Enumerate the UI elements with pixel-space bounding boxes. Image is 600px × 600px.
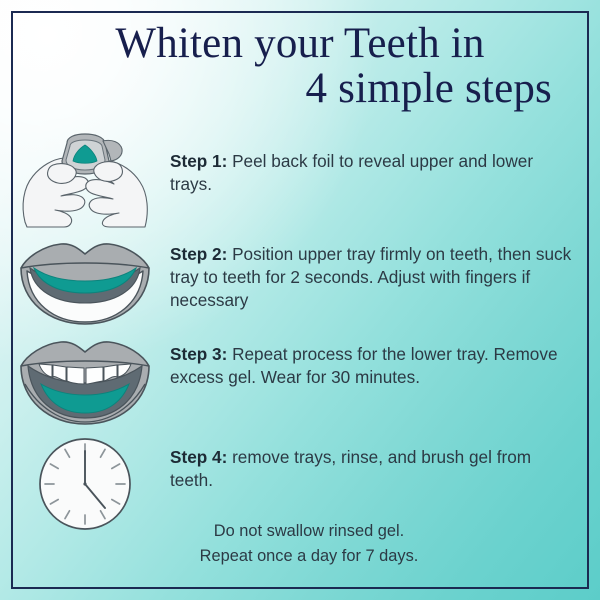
list-item: Step 2: Position upper tray firmly on te… bbox=[0, 229, 600, 332]
step-label-2: Step 2: bbox=[170, 244, 227, 264]
step-text-4: Step 4: remove trays, rinse, and brush g… bbox=[170, 432, 600, 492]
step-illustration-3 bbox=[0, 332, 170, 432]
open-mouth-upper-tray-icon bbox=[17, 235, 153, 327]
step-label-4: Step 4: bbox=[170, 447, 227, 467]
step-body-3: Repeat process for the lower tray. Remov… bbox=[170, 344, 558, 387]
steps-list: Step 1: Peel back foil to reveal upper a… bbox=[0, 131, 600, 535]
step-text-1: Step 1: Peel back foil to reveal upper a… bbox=[170, 131, 600, 196]
hands-peeling-foil-packet-icon bbox=[17, 132, 153, 228]
footer-line-2: Repeat once a day for 7 days. bbox=[18, 544, 600, 569]
clock-icon bbox=[37, 436, 133, 532]
title-line-2: 4 simple steps bbox=[30, 67, 570, 112]
step-label-3: Step 3: bbox=[170, 344, 227, 364]
step-text-2: Step 2: Position upper tray firmly on te… bbox=[170, 229, 600, 312]
step-text-3: Step 3: Repeat process for the lower tra… bbox=[170, 332, 600, 389]
step-label-1: Step 1: bbox=[170, 151, 227, 171]
page-title: Whiten your Teeth in 4 simple steps bbox=[30, 22, 570, 111]
step-illustration-2 bbox=[0, 229, 170, 332]
step-body-2: Position upper tray firmly on teeth, the… bbox=[170, 244, 571, 310]
list-item: Step 3: Repeat process for the lower tra… bbox=[0, 332, 600, 432]
footer-line-1: Do not swallow rinsed gel. bbox=[18, 519, 600, 544]
list-item: Step 1: Peel back foil to reveal upper a… bbox=[0, 131, 600, 229]
step-illustration-1 bbox=[0, 131, 170, 229]
footer-notes: Do not swallow rinsed gel. Repeat once a… bbox=[0, 519, 600, 568]
title-line-1: Whiten your Teeth in bbox=[30, 22, 570, 67]
open-mouth-lower-tray-icon bbox=[17, 336, 153, 428]
infographic-poster: Whiten your Teeth in 4 simple steps bbox=[0, 0, 600, 600]
